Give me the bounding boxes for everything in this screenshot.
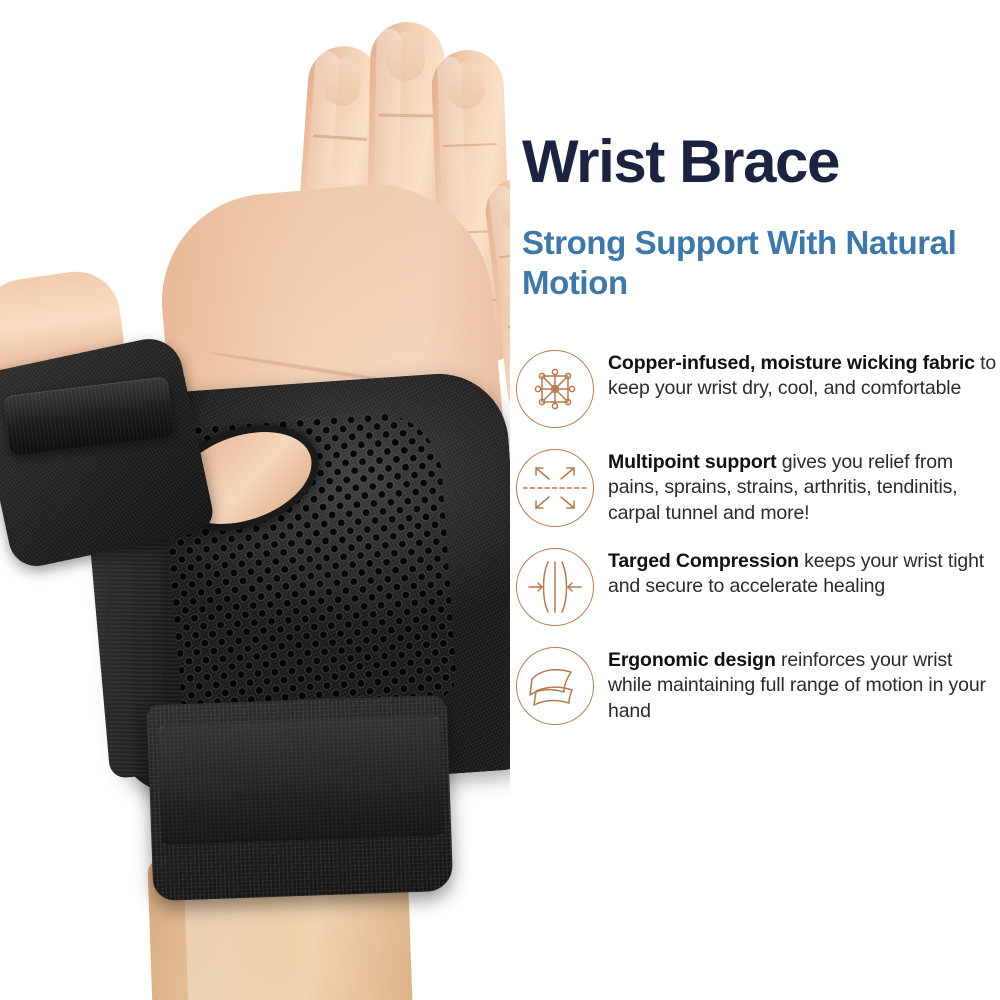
feature-text: Copper-infused, moisture wicking fabric …	[608, 348, 1000, 402]
feature-text: Targed Compression keeps your wrist tigh…	[608, 546, 1000, 600]
copy-column: Wrist Brace Strong Support With Natural …	[510, 0, 1000, 1000]
feature-item: Copper-infused, moisture wicking fabric …	[510, 348, 1000, 428]
feature-item: Ergonomic design reinforces your wrist w…	[510, 645, 1000, 725]
wrist-cuff-band	[158, 715, 444, 845]
molecule-network-icon	[516, 350, 594, 428]
feature-text: Multipoint support gives you relief from…	[608, 447, 1000, 526]
feature-item: Targed Compression keeps your wrist tigh…	[510, 546, 1000, 626]
feature-item: Multipoint support gives you relief from…	[510, 447, 1000, 527]
feature-bold: Targed Compression	[608, 550, 799, 572]
feature-bold: Copper-infused, moisture wicking fabric	[608, 352, 975, 374]
multidirectional-arrows-icon	[516, 449, 594, 527]
compression-arrows-icon	[516, 548, 594, 626]
product-photo	[0, 0, 510, 1000]
feature-bold: Multipoint support	[608, 451, 776, 473]
feature-text: Ergonomic design reinforces your wrist w…	[608, 645, 1000, 724]
feature-list: Copper-infused, moisture wicking fabric …	[510, 348, 1000, 744]
page-subtitle: Strong Support With Natural Motion	[522, 223, 984, 304]
infographic-page: Wrist Brace Strong Support With Natural …	[0, 0, 1000, 1000]
feature-bold: Ergonomic design	[608, 649, 776, 671]
page-title: Wrist Brace	[522, 132, 1000, 192]
layered-fabric-icon	[516, 647, 594, 725]
